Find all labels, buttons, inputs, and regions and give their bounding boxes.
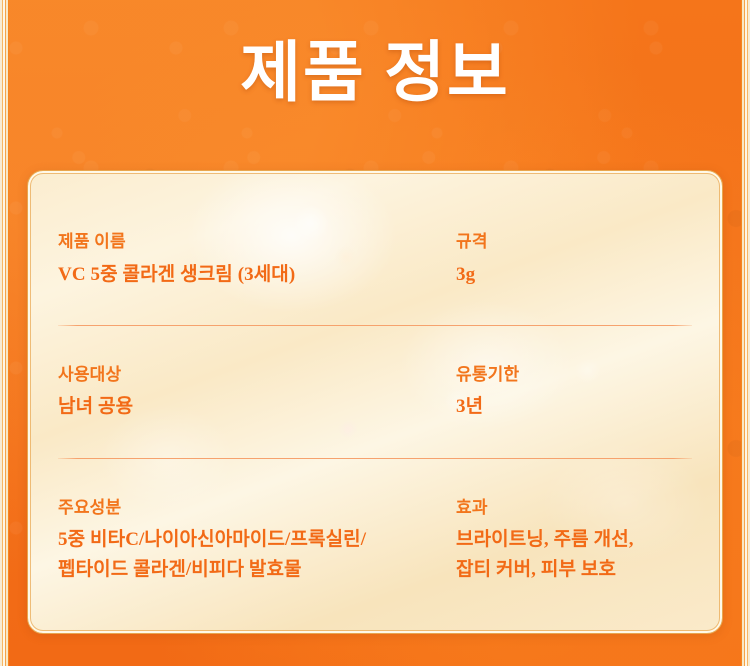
info-row-product-name: 제품 이름 VC 5중 콜라겐 생크림 (3세대) 규격 3g bbox=[58, 171, 692, 325]
info-cell-product-name: 제품 이름 VC 5중 콜라겐 생크림 (3세대) bbox=[58, 229, 456, 289]
info-row-ingredients: 주요성분 5중 비타C/나이아신아마이드/프록실린/ 펩타이드 콜라겐/비피다 … bbox=[58, 459, 692, 584]
info-cell-expiration: 유통기한 3년 bbox=[456, 362, 694, 422]
label-product-name: 제품 이름 bbox=[58, 229, 456, 255]
product-info-card: 제품 이름 VC 5중 콜라겐 생크림 (3세대) 규격 3g 사용대상 bbox=[27, 170, 723, 634]
value-line: 잡티 커버, 피부 보호 bbox=[456, 555, 694, 584]
info-cell-ingredients: 주요성분 5중 비타C/나이아신아마이드/프록실린/ 펩타이드 콜라겐/비피다 … bbox=[58, 495, 456, 584]
value-line: 남녀 공용 bbox=[58, 392, 456, 421]
value-line: VC 5중 콜라겐 생크림 (3세대) bbox=[58, 260, 456, 289]
value-target-user: 남녀 공용 bbox=[58, 392, 456, 421]
info-cell-specification: 규격 3g bbox=[456, 229, 694, 289]
value-line: 펩타이드 콜라겐/비피다 발효물 bbox=[58, 555, 456, 584]
label-specification: 규격 bbox=[456, 229, 694, 255]
label-target-user: 사용대상 bbox=[58, 362, 456, 388]
info-row-target-user: 사용대상 남녀 공용 유통기한 3년 bbox=[58, 326, 692, 458]
value-line: 3g bbox=[456, 260, 694, 289]
page-background: 제품 정보 제품 이름 VC 5중 콜라겐 생크림 (3세대) 규격 3g bbox=[0, 0, 750, 666]
info-cell-effects: 효과 브라이트닝, 주름 개선, 잡티 커버, 피부 보호 bbox=[456, 495, 694, 584]
value-effects: 브라이트닝, 주름 개선, 잡티 커버, 피부 보호 bbox=[456, 525, 694, 584]
value-line: 5중 비타C/나이아신아마이드/프록실린/ bbox=[58, 525, 456, 554]
page-title: 제품 정보 bbox=[0, 36, 750, 112]
value-line: 3년 bbox=[456, 392, 694, 421]
value-ingredients: 5중 비타C/나이아신아마이드/프록실린/ 펩타이드 콜라겐/비피다 발효물 bbox=[58, 525, 456, 584]
value-specification: 3g bbox=[456, 260, 694, 289]
value-line: 브라이트닝, 주름 개선, bbox=[456, 525, 694, 554]
value-product-name: VC 5중 콜라겐 생크림 (3세대) bbox=[58, 260, 456, 289]
label-expiration: 유통기한 bbox=[456, 362, 694, 388]
info-cell-target-user: 사용대상 남녀 공용 bbox=[58, 362, 456, 422]
label-effects: 효과 bbox=[456, 495, 694, 521]
product-info-table: 제품 이름 VC 5중 콜라겐 생크림 (3세대) 규격 3g 사용대상 bbox=[28, 171, 722, 633]
value-expiration: 3년 bbox=[456, 392, 694, 421]
label-ingredients: 주요성분 bbox=[58, 495, 456, 521]
